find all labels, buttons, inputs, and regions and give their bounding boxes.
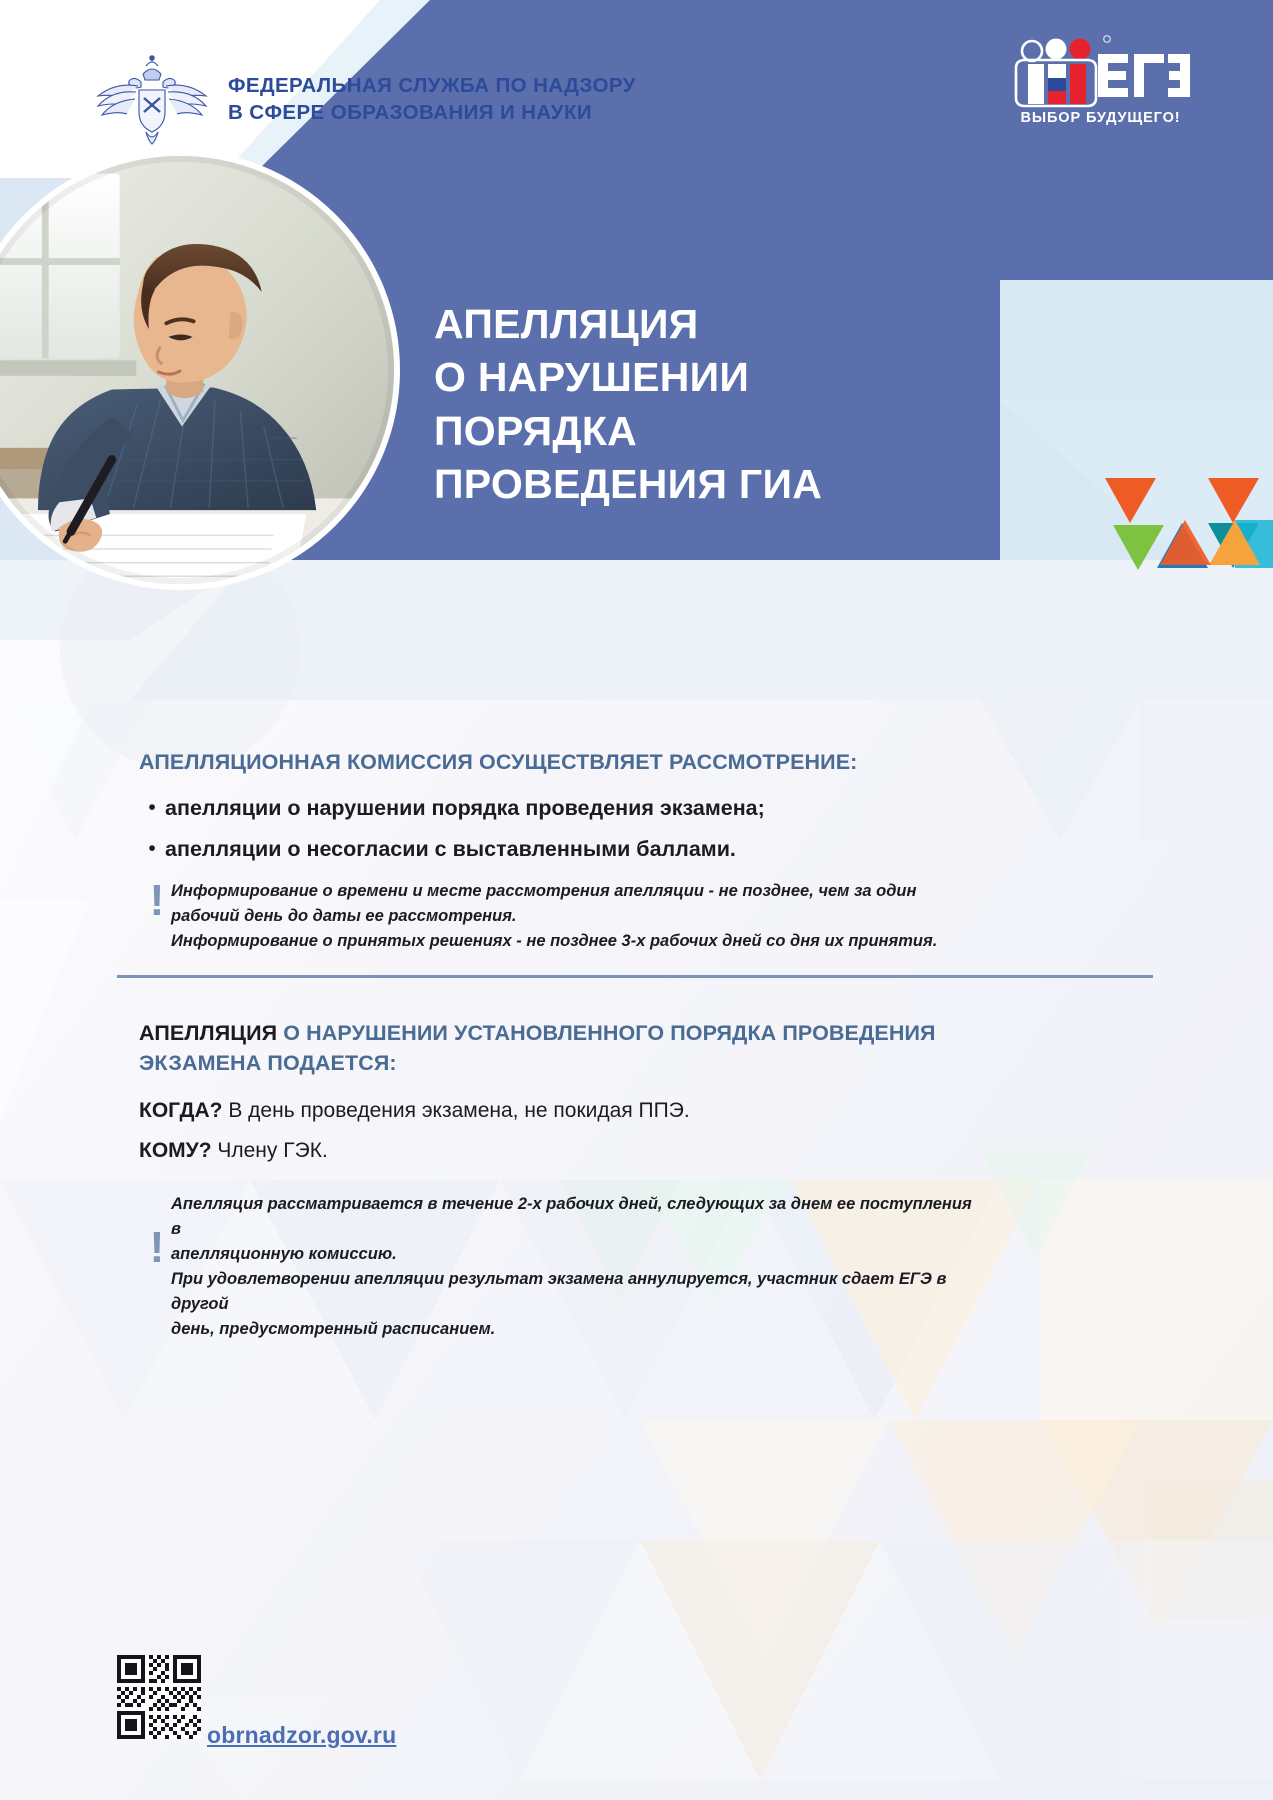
bottom-triangles <box>160 1540 1273 1800</box>
student-writing-photo <box>0 150 400 590</box>
section1-note: ! Информирование о времени и месте рассм… <box>143 879 973 954</box>
when-value: В день проведения экзамена, не покидая П… <box>223 1099 690 1122</box>
ege-logo: ВЫБОР БУДУЩЕГО! <box>1008 34 1193 146</box>
page-title: АПЕЛЛЯЦИЯ О НАРУШЕНИИ ПОРЯДКА ПРОВЕДЕНИЯ… <box>434 298 994 511</box>
list-item-label: апелляции о несогласии с выставленными б… <box>165 834 736 865</box>
section1-note-text: Информирование о времени и месте рассмот… <box>171 879 937 954</box>
list-item: • апелляции о нарушении порядка проведен… <box>139 793 979 824</box>
when-label: КОГДА? <box>139 1099 223 1122</box>
section2-note: ! Апелляция рассматривается в течение 2-… <box>143 1192 983 1342</box>
section1-bullet-list: • апелляции о нарушении порядка проведен… <box>139 793 979 875</box>
exclamation-mark-icon: ! <box>143 1192 171 1266</box>
agency-name: ФЕДЕРАЛЬНАЯ СЛУЖБА ПО НАДЗОРУ В СФЕРЕ ОБ… <box>228 72 636 126</box>
bullet-dot-icon: • <box>139 793 165 823</box>
qr-code-icon[interactable] <box>117 1655 201 1744</box>
whom-label: КОМУ? <box>139 1139 212 1162</box>
double-headed-eagle-emblem-icon <box>92 54 212 146</box>
section2-heading: АПЕЛЛЯЦИЯ О НАРУШЕНИИ УСТАНОВЛЕННОГО ПОР… <box>139 1019 1019 1078</box>
list-item: • апелляции о несогласии с выставленными… <box>139 834 979 865</box>
section-divider <box>117 975 1153 978</box>
ege-logo-mark-icon <box>1012 34 1190 108</box>
list-item-label: апелляции о нарушении порядка проведения… <box>165 793 765 824</box>
section2-note-text: Апелляция рассматривается в течение 2-х … <box>171 1192 983 1342</box>
whom-line: КОМУ? Члену ГЭК. <box>139 1135 328 1167</box>
section2-heading-bold: АПЕЛЛЯЦИЯ <box>139 1021 277 1045</box>
section1-heading: АПЕЛЛЯЦИОННАЯ КОМИССИЯ ОСУЩЕСТВЛЯЕТ РАСС… <box>139 748 1039 778</box>
bullet-dot-icon: • <box>139 834 165 864</box>
ege-slogan: ВЫБОР БУДУЩЕГО! <box>1008 110 1193 126</box>
poster-root: ФЕДЕРАЛЬНАЯ СЛУЖБА ПО НАДЗОРУ В СФЕРЕ ОБ… <box>0 0 1273 1800</box>
website-link[interactable]: obrnadzor.gov.ru <box>207 1722 396 1749</box>
triangle-pattern-hero <box>1105 478 1273 570</box>
whom-value: Члену ГЭК. <box>212 1139 328 1162</box>
exclamation-mark-icon: ! <box>143 879 171 919</box>
when-line: КОГДА? В день проведения экзамена, не по… <box>139 1095 690 1127</box>
